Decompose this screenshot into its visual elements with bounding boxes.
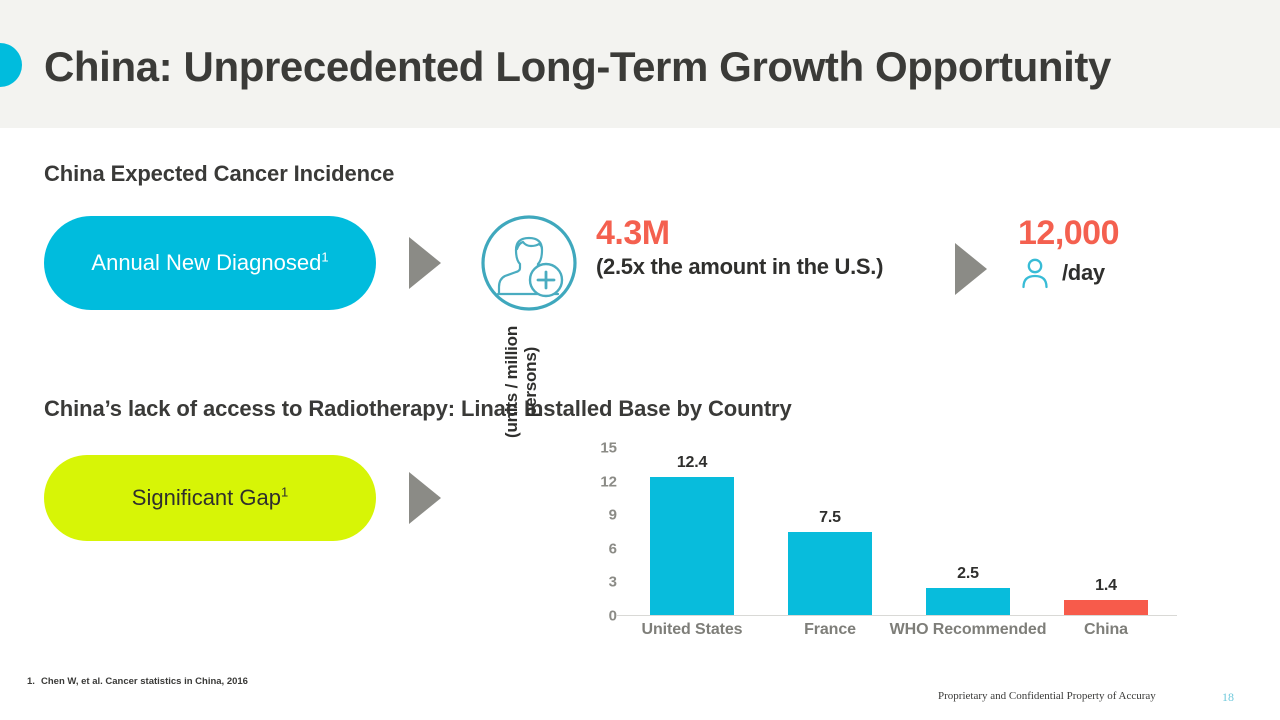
pill-significant-gap-label: Significant Gap1 [132,485,288,511]
stat-value-12000: 12,000 [1018,216,1258,252]
footnote-marker: 1 [321,250,328,265]
chart-bar-column: 2.5 [926,448,1010,616]
chart-x-label: United States [613,620,771,640]
chart-x-labels: United StatesFranceWHO RecommendedChina [623,620,1175,666]
page-number: 18 [1222,690,1234,705]
pill-annual-new-diagnosed[interactable]: Annual New Diagnosed1 [44,216,376,310]
chart-x-label: China [1027,620,1185,640]
chart-bar [650,477,734,616]
chart-bar [1064,600,1148,616]
section2-heading: China’s lack of access to Radiotherapy: … [44,396,792,422]
slide: China: Unprecedented Long-Term Growth Op… [0,0,1280,720]
chart-y-tick: 9 [591,507,617,524]
chart-bar-column: 12.4 [650,448,734,616]
stat-per-day-unit: /day [1062,260,1105,286]
chart-plot-area: 12.47.52.51.4 [623,448,1175,616]
stat-per-day: 12,000 /day [1018,216,1258,290]
stat-caption: (2.5x the amount in the U.S.) [596,254,926,280]
stat-value-4-3m: 4.3M [596,216,926,252]
arrow-right-icon [409,237,441,289]
chart-bar [926,588,1010,616]
chart-bar-value-label: 7.5 [819,509,841,527]
page-title: China: Unprecedented Long-Term Growth Op… [44,44,1224,89]
arrow-right-icon-2 [955,243,987,295]
chart-y-tick: 15 [591,440,617,457]
chart-bar-column: 7.5 [788,448,872,616]
chart-y-axis-title: (units / million persons) [503,298,527,466]
chart-baseline [617,615,1177,616]
section1-heading: China Expected Cancer Incidence [44,161,394,187]
chart-x-label: WHO Recommended [889,620,1047,640]
footnote-text: Chen W, et al. Cancer statistics in Chin… [41,676,248,687]
pill-significant-gap[interactable]: Significant Gap1 [44,455,376,541]
stat-annual-new-diagnosed: 4.3M (2.5x the amount in the U.S.) [596,216,926,280]
person-icon [1018,256,1052,290]
pill-annual-new-diagnosed-label: Annual New Diagnosed1 [91,250,328,276]
footer-confidentiality: Proprietary and Confidential Property of… [938,690,1156,702]
chart-bar-column: 1.4 [1064,448,1148,616]
chart-bar [788,532,872,616]
stat-per-day-row: /day [1018,256,1258,290]
footnote: 1.Chen W, et al. Cancer statistics in Ch… [27,676,327,689]
chart-y-ticks: 15129630 [591,448,617,616]
chart-bar-value-label: 12.4 [677,454,707,472]
linac-installed-base-chart: (units / million persons) 15129630 12.47… [505,448,1180,668]
chart-bar-value-label: 2.5 [957,565,979,583]
chart-y-tick: 12 [591,473,617,490]
footnote-marker-2: 1 [281,485,288,500]
arrow-right-icon-3 [409,472,441,524]
chart-x-label: France [751,620,909,640]
chart-y-tick: 3 [591,574,617,591]
chart-y-tick: 6 [591,540,617,557]
footnote-number: 1. [27,676,41,689]
chart-bar-value-label: 1.4 [1095,577,1117,595]
